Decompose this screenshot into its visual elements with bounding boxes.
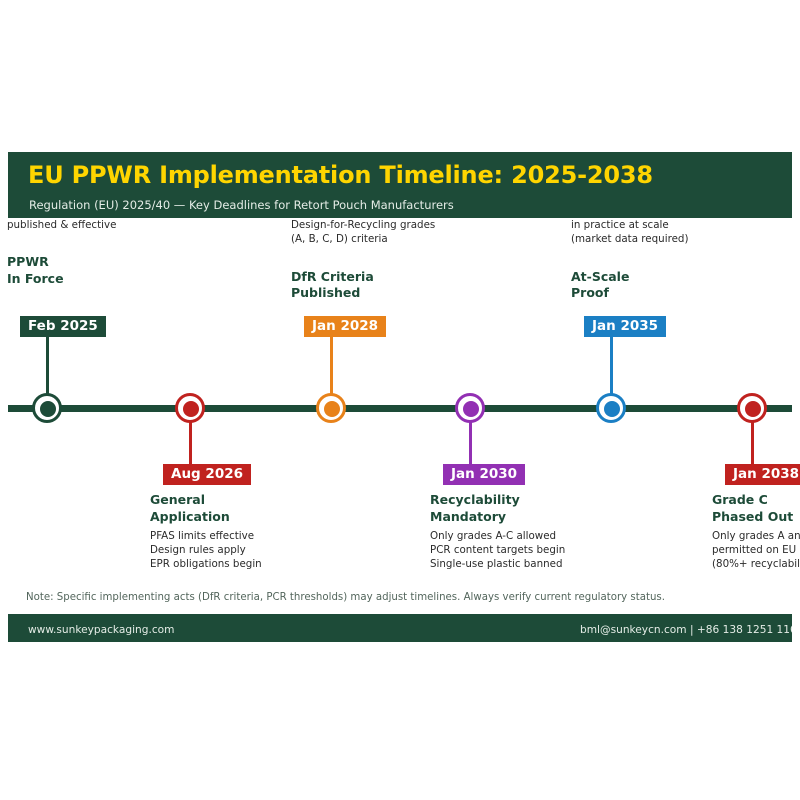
milestone-description: PFAS limits effectiveDesign rules applyE…: [150, 529, 262, 572]
page-title: EU PPWR Implementation Timeline: 2025-20…: [28, 161, 653, 189]
milestone-title-line1: General: [150, 492, 262, 509]
date-badge: Jan 2035: [584, 316, 666, 337]
timeline-node[interactable]: [596, 393, 626, 423]
milestone-description-line: Single-use plastic banned: [430, 557, 565, 571]
timeline-node-core: [604, 401, 620, 417]
milestone-label: Grade CPhased OutOnly grades A and Bperm…: [712, 492, 800, 572]
header-bar: EU PPWR Implementation Timeline: 2025-20…: [8, 152, 792, 218]
milestone-description-line: Only grades A-C allowed: [430, 529, 565, 543]
milestone-title-line2: Mandatory: [430, 509, 565, 526]
milestone-title-line2: In Force: [7, 271, 133, 288]
milestone-description-line: published & effective: [7, 218, 133, 232]
milestone-description-line: Design rules apply: [150, 543, 262, 557]
milestone-label: GeneralApplicationPFAS limits effectiveD…: [150, 492, 262, 572]
milestone-label: RecyclabilityMandatoryOnly grades A-C al…: [430, 492, 565, 572]
timeline-node-core: [40, 401, 56, 417]
milestone-label: EU Commission publishesDesign-for-Recycl…: [291, 204, 435, 302]
milestone-title: Grade CPhased Out: [712, 492, 800, 525]
milestone-description-line: permitted on EU market: [712, 543, 800, 557]
milestone-description-line: EPR obligations begin: [150, 557, 262, 571]
timeline-node-core: [463, 401, 479, 417]
milestone-description-line: Design-for-Recycling grades: [291, 218, 435, 232]
milestone-description-line: PCR content targets begin: [430, 543, 565, 557]
milestone-title-line2: Published: [291, 285, 435, 302]
milestone-title: PPWRIn Force: [7, 254, 133, 287]
timeline-node[interactable]: [316, 393, 346, 423]
timeline-node-core: [745, 401, 761, 417]
footer-bar: www.sunkeypackaging.com bml@sunkeycn.com…: [8, 614, 792, 642]
date-badge: Aug 2026: [163, 464, 251, 485]
timeline-node[interactable]: [455, 393, 485, 423]
timeline-node-core: [183, 401, 199, 417]
milestone-title: At-ScaleProof: [571, 269, 688, 302]
infographic-canvas: Feb 2025Regulation (EU) 2025/40published…: [0, 0, 800, 800]
milestone-title-line2: Application: [150, 509, 262, 526]
milestone-title: RecyclabilityMandatory: [430, 492, 565, 525]
milestone-title-line1: DfR Criteria: [291, 269, 435, 286]
milestone-description: Only grades A and Bpermitted on EU marke…: [712, 529, 800, 572]
milestone-description-line: PFAS limits effective: [150, 529, 262, 543]
milestone-description-line: (80%+ recyclability): [712, 557, 800, 571]
timeline-node[interactable]: [737, 393, 767, 423]
milestone-title: DfR CriteriaPublished: [291, 269, 435, 302]
milestone-title-line2: Proof: [571, 285, 688, 302]
milestone-title: GeneralApplication: [150, 492, 262, 525]
footer-website[interactable]: www.sunkeypackaging.com: [28, 624, 174, 636]
date-badge: Jan 2038: [725, 464, 800, 485]
timeline-node-core: [324, 401, 340, 417]
milestone-description-line: in practice at scale: [571, 218, 688, 232]
date-badge: Jan 2030: [443, 464, 525, 485]
milestone-title-line2: Phased Out: [712, 509, 800, 526]
page-subtitle: Regulation (EU) 2025/40 — Key Deadlines …: [29, 198, 454, 212]
milestone-description-line: (A, B, C, D) criteria: [291, 232, 435, 246]
milestone-description-line: Only grades A and B: [712, 529, 800, 543]
footer-contact[interactable]: bml@sunkeycn.com | +86 138 1251 1168: [580, 624, 792, 636]
milestone-title-line1: Grade C: [712, 492, 800, 509]
timeline-infographic: Feb 2025Regulation (EU) 2025/40published…: [0, 152, 800, 642]
milestone-description-line: (market data required): [571, 232, 688, 246]
milestone-description: Only grades A-C allowedPCR content targe…: [430, 529, 565, 572]
milestone-label: Recyclability provenin practice at scale…: [571, 204, 688, 302]
timeline-node[interactable]: [32, 393, 62, 423]
timeline-node[interactable]: [175, 393, 205, 423]
milestone-title-line1: Recyclability: [430, 492, 565, 509]
date-badge: Feb 2025: [20, 316, 106, 337]
milestone-title-line1: PPWR: [7, 254, 133, 271]
disclaimer-note: Note: Specific implementing acts (DfR cr…: [26, 592, 665, 603]
milestone-title-line1: At-Scale: [571, 269, 688, 286]
date-badge: Jan 2028: [304, 316, 386, 337]
timeline-axis: [8, 405, 792, 412]
